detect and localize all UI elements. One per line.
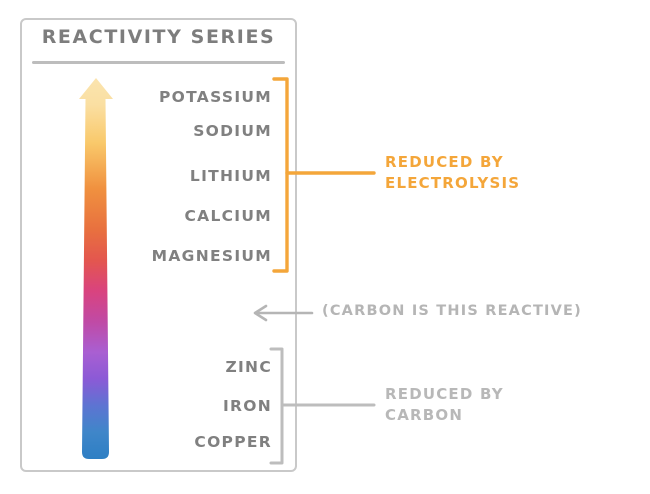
annotation-reduced-by-electrolysis: REDUCED BY ELECTROLYSIS: [385, 152, 520, 194]
annotation-reduced-by-carbon: REDUCED BY CARBON: [385, 384, 504, 426]
list-item: ZINC: [112, 358, 272, 376]
list-item: MAGNESIUM: [112, 247, 272, 265]
diagram-canvas: REACTIVITY SERIES: [0, 0, 650, 494]
annotation-carbon-reactivity: (CARBON IS THIS REACTIVE): [322, 301, 582, 322]
list-item: LITHIUM: [112, 167, 272, 185]
list-item: POTASSIUM: [112, 88, 272, 106]
element-list: POTASSIUM SODIUM LITHIUM CALCIUM MAGNESI…: [112, 0, 272, 494]
list-item: COPPER: [112, 433, 272, 451]
list-item: SODIUM: [112, 122, 272, 140]
list-item: CALCIUM: [112, 207, 272, 225]
list-item: IRON: [112, 397, 272, 415]
